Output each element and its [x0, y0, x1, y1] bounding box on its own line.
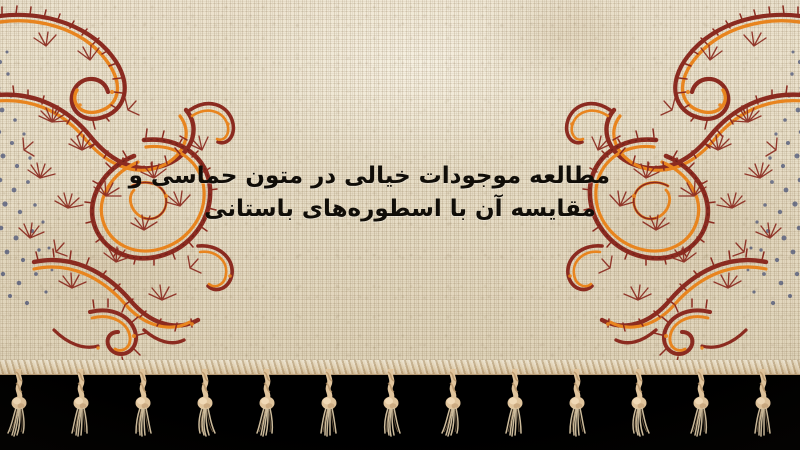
slide-title: مطالعه موجودات خیالی در متون حماسی و مقا…: [0, 160, 800, 226]
tassel: [192, 369, 218, 439]
tassel: [6, 369, 32, 439]
title-line-1: مطالعه موجودات خیالی در متون حماسی و: [190, 160, 610, 193]
title-line-2: مقایسه آن با اسطوره‌های باستانی: [190, 193, 610, 226]
tassel: [68, 369, 94, 439]
tassel: [130, 369, 156, 439]
tassel: [502, 369, 528, 439]
tassel: [626, 369, 652, 439]
tassel: [750, 369, 776, 439]
tassel: [316, 369, 342, 439]
title-slide: مطالعه موجودات خیالی در متون حماسی و مقا…: [0, 0, 800, 450]
tassel: [440, 369, 466, 439]
tassel: [564, 369, 590, 439]
tassel: [688, 369, 714, 439]
tassel: [378, 369, 404, 439]
tassel-fringe-border: [0, 360, 800, 450]
tassel: [254, 369, 280, 439]
